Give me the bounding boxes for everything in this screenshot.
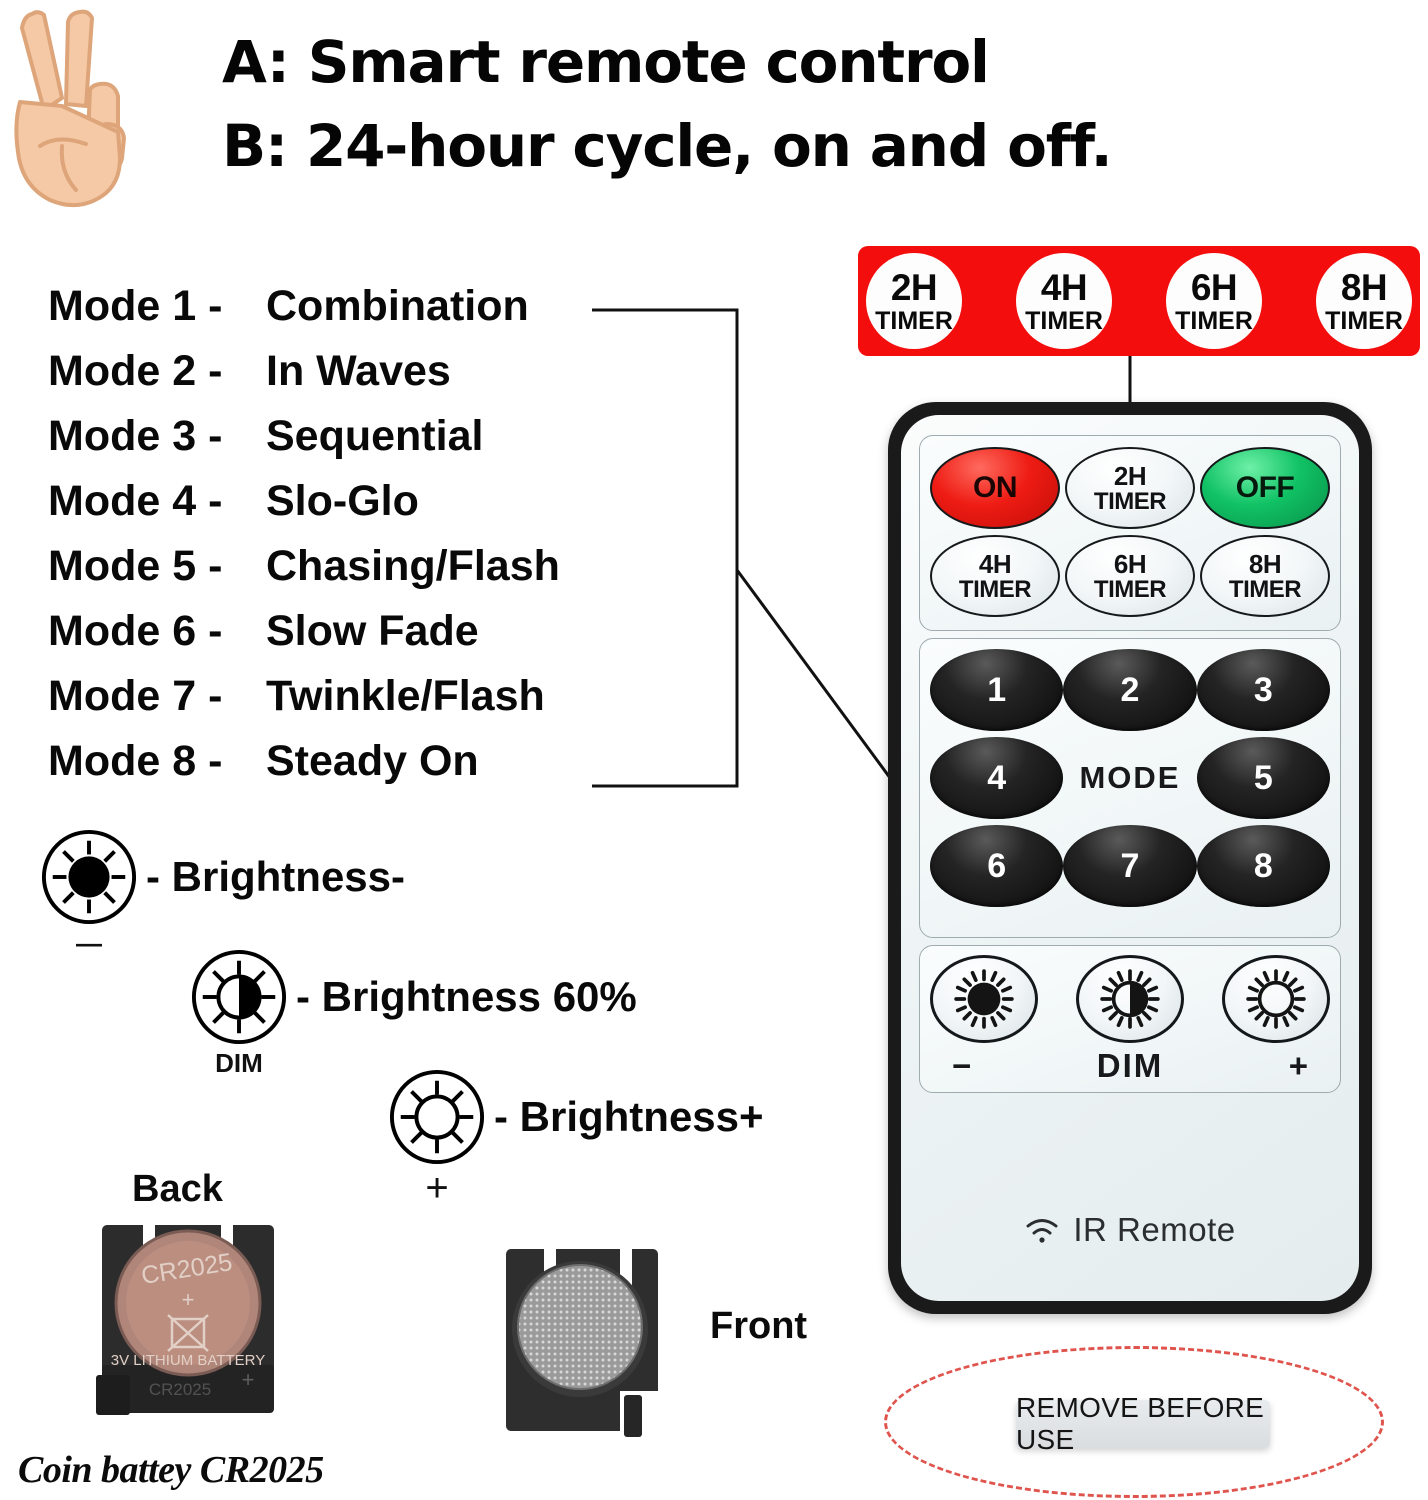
dim-plus-label: + <box>1289 1047 1308 1085</box>
ir-remote-label: IR Remote <box>1073 1211 1235 1249</box>
mode-button-4[interactable]: 4 <box>930 737 1063 819</box>
banner-chip-sub: TIMER <box>1175 309 1253 334</box>
mode-key: Mode 6 - <box>48 607 266 656</box>
battery-front-label: Front <box>710 1305 807 1348</box>
legend-sub-dim: DIM <box>190 1048 288 1079</box>
mode-value: Slo-Glo <box>266 477 419 526</box>
timer-8h-hours: 8H <box>1249 551 1281 577</box>
brightness-legend-low: — - Brightness- <box>40 828 405 926</box>
banner-chip-hours: 6H <box>1191 269 1237 306</box>
mode-value: Steady On <box>266 737 479 786</box>
svg-text:+: + <box>242 1367 255 1392</box>
list-item: Mode 3 - Sequential <box>48 412 648 477</box>
mode-list: Mode 1 - Combination Mode 2 - In Waves M… <box>48 282 648 802</box>
list-item: Mode 5 - Chasing/Flash <box>48 542 648 607</box>
mode-keypad-panel: 1 2 3 4 MODE 5 6 7 8 <box>919 638 1341 938</box>
banner-chip-sub: TIMER <box>1025 309 1103 334</box>
banner-chip-8h[interactable]: 8H TIMER <box>1316 253 1412 349</box>
dim-panel: − DIM + <box>919 945 1341 1093</box>
banner-chip-2h[interactable]: 2H TIMER <box>866 253 962 349</box>
timer-banner: 2H TIMER 4H TIMER 6H TIMER 8H TIMER <box>858 246 1420 356</box>
battery-front-photo <box>492 1243 674 1443</box>
mode-button-2[interactable]: 2 <box>1063 649 1196 731</box>
sun-hollow-icon <box>1235 958 1317 1040</box>
mode-button-6[interactable]: 6 <box>930 825 1063 907</box>
timer-4h-sub: TIMER <box>959 578 1031 602</box>
list-item: Mode 7 - Twinkle/Flash <box>48 672 648 737</box>
timer-2h-button[interactable]: 2H TIMER <box>1065 447 1195 529</box>
mode-key: Mode 3 - <box>48 412 266 461</box>
timer-6h-sub: TIMER <box>1094 578 1166 602</box>
header-text-block: A: Smart remote control B: 24-hour cycle… <box>222 20 1282 188</box>
timer-2h-hours: 2H <box>1114 463 1146 489</box>
on-button-label: ON <box>973 473 1017 503</box>
mode-button-7[interactable]: 7 <box>1063 825 1196 907</box>
timer-4h-button[interactable]: 4H TIMER <box>930 535 1060 617</box>
sun-half-icon <box>190 948 288 1046</box>
timer-6h-hours: 6H <box>1114 551 1146 577</box>
list-item: Mode 4 - Slo-Glo <box>48 477 648 542</box>
mode-key: Mode 4 - <box>48 477 266 526</box>
pull-tab[interactable]: REMOVE BEFORE USE <box>1016 1400 1270 1448</box>
banner-chip-sub: TIMER <box>1325 309 1403 334</box>
dim-minus-label: − <box>952 1047 971 1085</box>
sun-half-icon <box>1089 958 1171 1040</box>
dim-label: DIM <box>1097 1047 1164 1085</box>
timer-4h-hours: 4H <box>979 551 1011 577</box>
mode-value: Combination <box>266 282 529 331</box>
mode-key: Mode 1 - <box>48 282 266 331</box>
ir-footer: IR Remote <box>901 1211 1359 1249</box>
power-timer-panel: ON 2H TIMER OFF 4H TIMER 6H TIMER <box>919 435 1341 631</box>
mode-value: Chasing/Flash <box>266 542 560 591</box>
banner-chip-hours: 4H <box>1041 269 1087 306</box>
dim-up-button[interactable] <box>1222 955 1330 1043</box>
off-button[interactable]: OFF <box>1200 447 1330 529</box>
battery-back-label: Back <box>132 1168 223 1211</box>
remote-face: ON 2H TIMER OFF 4H TIMER 6H TIMER <box>901 415 1359 1301</box>
list-item: Mode 8 - Steady On <box>48 737 648 802</box>
list-item: Mode 2 - In Waves <box>48 347 648 412</box>
legend-label-mid: - Brightness 60% <box>296 973 637 1021</box>
headline-b: B: 24-hour cycle, on and off. <box>222 104 1282 188</box>
remote-control: ON 2H TIMER OFF 4H TIMER 6H TIMER <box>888 402 1372 1314</box>
ir-signal-icon <box>1024 1215 1060 1245</box>
mode-key: Mode 2 - <box>48 347 266 396</box>
sun-hollow-icon <box>388 1068 486 1166</box>
banner-chip-6h[interactable]: 6H TIMER <box>1166 253 1262 349</box>
legend-sub-plus: + <box>388 1166 486 1211</box>
list-item: Mode 6 - Slow Fade <box>48 607 648 672</box>
timer-6h-button[interactable]: 6H TIMER <box>1065 535 1195 617</box>
sun-solid-icon <box>40 828 138 926</box>
off-button-label: OFF <box>1236 473 1295 503</box>
legend-sub-minus: — <box>40 928 138 959</box>
banner-chip-4h[interactable]: 4H TIMER <box>1016 253 1112 349</box>
on-button[interactable]: ON <box>930 447 1060 529</box>
legend-label-high: - Brightness+ <box>494 1093 764 1141</box>
mode-key: Mode 5 - <box>48 542 266 591</box>
timer-2h-sub: TIMER <box>1094 490 1166 514</box>
mode-button-1[interactable]: 1 <box>930 649 1063 731</box>
mode-value: Sequential <box>266 412 483 461</box>
battery-caption: Coin battey CR2025 <box>18 1448 324 1492</box>
svg-text:+: + <box>182 1287 195 1312</box>
mode-value: In Waves <box>266 347 451 396</box>
mode-panel-label: MODE <box>1063 737 1196 819</box>
timer-8h-button[interactable]: 8H TIMER <box>1200 535 1330 617</box>
banner-chip-hours: 2H <box>891 269 937 306</box>
list-item: Mode 1 - Combination <box>48 282 648 347</box>
mode-value: Slow Fade <box>266 607 479 656</box>
dim-mid-button[interactable] <box>1076 955 1184 1043</box>
brightness-legend-high: + - Brightness+ <box>388 1068 764 1166</box>
dim-down-button[interactable] <box>930 955 1038 1043</box>
victory-hand-emoji <box>2 6 137 211</box>
mode-value: Twinkle/Flash <box>266 672 545 721</box>
mode-key: Mode 8 - <box>48 737 266 786</box>
banner-chip-sub: TIMER <box>875 309 953 334</box>
mode-button-5[interactable]: 5 <box>1197 737 1330 819</box>
sun-solid-icon <box>943 958 1025 1040</box>
brightness-legend-mid: DIM - Brightness 60% <box>190 948 637 1046</box>
mode-button-8[interactable]: 8 <box>1197 825 1330 907</box>
legend-label-low: - Brightness- <box>146 853 405 901</box>
banner-chip-hours: 8H <box>1341 269 1387 306</box>
mode-key: Mode 7 - <box>48 672 266 721</box>
headline-a: A: Smart remote control <box>222 20 1282 104</box>
timer-8h-sub: TIMER <box>1229 578 1301 602</box>
battery-holder-model: CR2025 <box>149 1380 211 1399</box>
mode-button-3[interactable]: 3 <box>1197 649 1330 731</box>
battery-back-photo: CR2025 + 3V LITHIUM BATTERY CR2025 + <box>88 1215 288 1420</box>
